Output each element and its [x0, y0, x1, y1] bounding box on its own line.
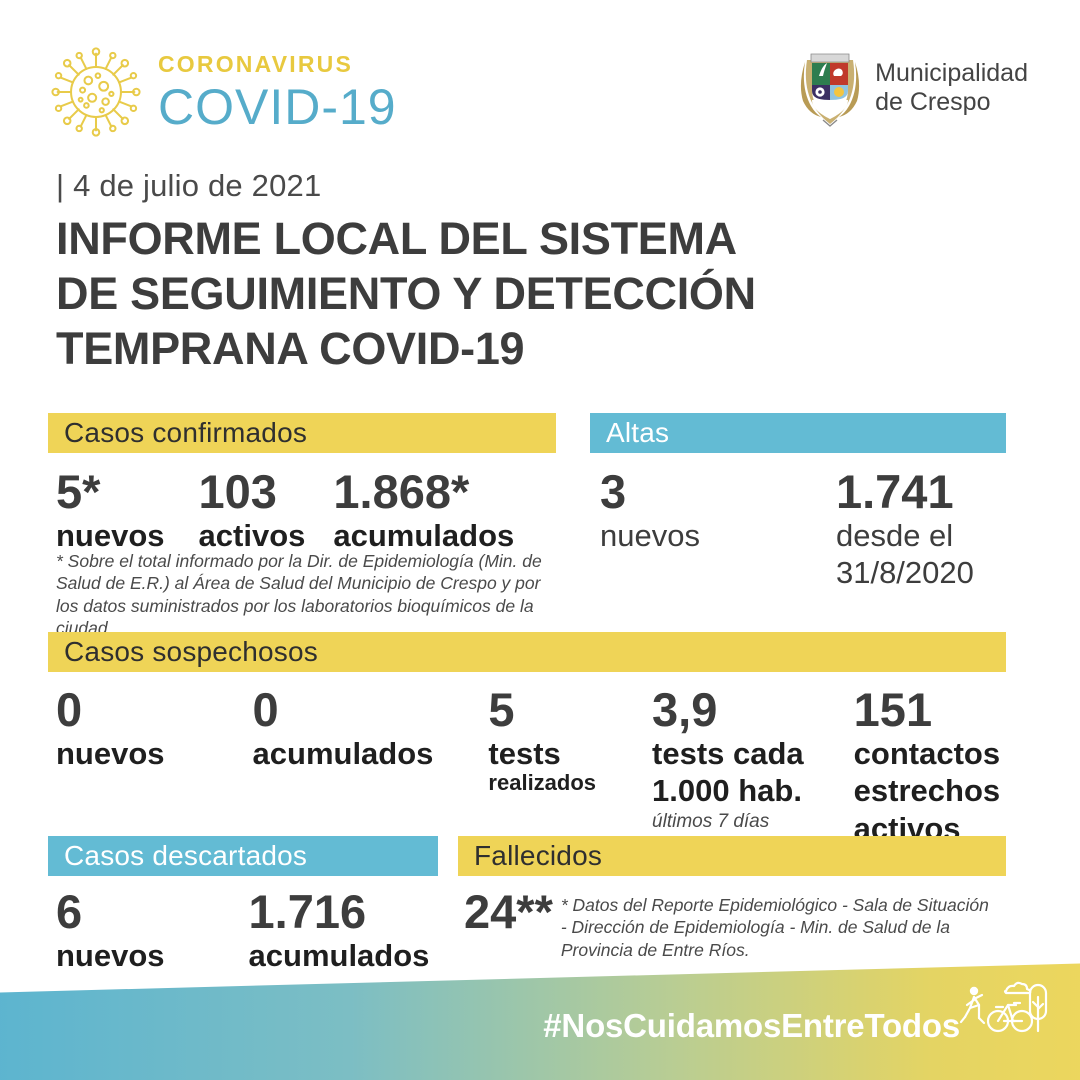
page-title-line-1: INFORME LOCAL DEL SISTEMA	[56, 212, 756, 267]
section-title-casos-sospechosos: Casos sospechosos	[64, 636, 318, 668]
stat-value: 1.741	[836, 468, 974, 515]
stat-value: 5*	[56, 468, 165, 515]
municipality-line-2: de Crespo	[875, 88, 1028, 118]
infographic-page: CORONAVIRUS COVID-19	[0, 0, 1080, 1080]
crespo-coat-of-arms-icon	[799, 46, 861, 130]
cloud-icon	[1005, 983, 1030, 993]
stat-altas-acumuladas: 1.741 desde el 31/8/2020	[836, 468, 974, 590]
stats-fallecidos: 24** * Datos del Reporte Epidemiológico …	[464, 888, 1012, 961]
stat-label: nuevos	[56, 519, 165, 552]
stat-label: tests cada	[652, 737, 804, 770]
section-header-casos-descartados: Casos descartados	[48, 836, 438, 876]
section-header-altas: Altas	[590, 413, 1006, 453]
stat-tests-cada-mil: 3,9 tests cada 1.000 hab. últimos 7 días	[652, 686, 804, 833]
stat-sublabel: realizados	[488, 771, 596, 795]
page-title-line-3: TEMPRANA COVID-19	[56, 322, 756, 377]
brand-wordmark: CORONAVIRUS COVID-19	[158, 53, 397, 132]
municipality-name: Municipalidad de Crespo	[875, 59, 1028, 118]
stat-value: 3	[600, 468, 700, 515]
section-title-fallecidos: Fallecidos	[474, 840, 602, 872]
stat-tests-realizados: 5 tests realizados	[488, 686, 596, 796]
stat-label: acumulados	[253, 737, 434, 770]
stat-sospechosos-nuevos: 0 nuevos	[56, 686, 165, 770]
stats-casos-sospechosos: 0 nuevos 0 acumulados 5 tests realizados…	[56, 686, 1000, 845]
stat-value: 1.716	[249, 888, 430, 935]
stat-value: 5	[488, 686, 596, 733]
stat-label: acumulados	[333, 519, 514, 552]
stat-label-secondary: estrechos	[854, 774, 1000, 807]
stat-label: nuevos	[56, 737, 165, 770]
stat-sublabel: últimos 7 días	[652, 812, 804, 833]
municipality-logo: Municipalidad de Crespo	[799, 46, 1028, 130]
coronavirus-icon	[48, 44, 144, 140]
section-title-casos-descartados: Casos descartados	[64, 840, 307, 872]
report-date: | 4 de julio de 2021	[56, 168, 321, 204]
stats-altas: 3 nuevos 1.741 desde el 31/8/2020	[600, 468, 974, 590]
stat-altas-nuevos: 3 nuevos	[600, 468, 700, 552]
page-title: INFORME LOCAL DEL SISTEMA DE SEGUIMIENTO…	[56, 212, 756, 377]
stat-label-secondary: 31/8/2020	[836, 556, 974, 589]
footnote-casos-confirmados: * Sobre el total informado por la Dir. d…	[56, 550, 546, 640]
stat-confirmados-nuevos: 5* nuevos	[56, 468, 165, 552]
stat-value: 103	[199, 468, 306, 515]
stat-value: 0	[253, 686, 434, 733]
header: CORONAVIRUS COVID-19	[48, 40, 1032, 155]
stat-confirmados-activos: 103 activos	[199, 468, 306, 552]
municipality-line-1: Municipalidad	[875, 59, 1028, 89]
campaign-hashtag: #NosCuidamosEntreTodos	[543, 1007, 960, 1045]
brand-covid19-text: COVID-19	[158, 82, 397, 132]
stat-label-secondary: 1.000 hab.	[652, 774, 804, 807]
stat-fallecidos-value: 24**	[464, 888, 553, 935]
stat-confirmados-acumulados: 1.868* acumulados	[333, 468, 514, 552]
stat-label: tests	[488, 737, 596, 770]
stat-label: desde el	[836, 519, 974, 552]
stat-label: activos	[199, 519, 306, 552]
stat-value: 0	[56, 686, 165, 733]
stat-label: nuevos	[600, 519, 700, 552]
footer-pictograms	[958, 977, 1048, 1047]
stat-sospechosos-acumulados: 0 acumulados	[253, 686, 434, 770]
stats-casos-confirmados: 5* nuevos 103 activos 1.868* acumulados	[56, 468, 514, 552]
page-title-line-2: DE SEGUIMIENTO Y DETECCIÓN	[56, 267, 756, 322]
stat-value: 3,9	[652, 686, 804, 733]
footnote-fallecidos: * Datos del Reporte Epidemiológico - Sal…	[561, 888, 999, 961]
pedestrian-icon	[961, 987, 984, 1023]
stat-value: 1.868*	[333, 468, 514, 515]
footer-banner: #NosCuidamosEntreTodos	[0, 955, 1080, 1080]
brand-coronavirus-text: CORONAVIRUS	[158, 53, 397, 76]
section-title-altas: Altas	[606, 417, 669, 449]
section-header-casos-confirmados: Casos confirmados	[48, 413, 556, 453]
section-header-casos-sospechosos: Casos sospechosos	[48, 632, 1006, 672]
stat-label: contactos	[854, 737, 1000, 770]
stat-contactos-estrechos-activos: 151 contactos estrechos activos	[854, 686, 1000, 845]
covid-brand-logo: CORONAVIRUS COVID-19	[48, 44, 397, 140]
bicycle-icon	[988, 1003, 1032, 1031]
stat-value: 6	[56, 888, 165, 935]
section-title-casos-confirmados: Casos confirmados	[64, 417, 307, 449]
section-header-fallecidos: Fallecidos	[458, 836, 1006, 876]
stat-value: 151	[854, 686, 1000, 733]
